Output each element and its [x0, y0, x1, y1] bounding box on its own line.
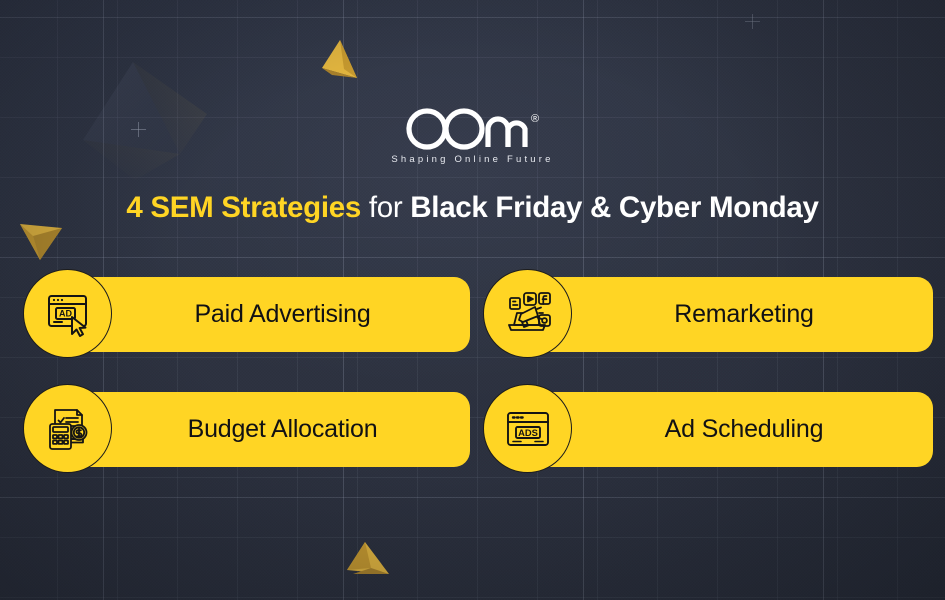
infographic-canvas: ® Shaping Online Future 4 SEM Strategies…: [0, 0, 945, 600]
strategy-label: Paid Advertising: [63, 300, 470, 329]
brand-logo: ® Shaping Online Future: [0, 108, 945, 165]
strategy-label: Budget Allocation: [63, 415, 470, 444]
registered-trademark-symbol: ®: [531, 114, 539, 125]
logo-mark: ®: [406, 108, 539, 150]
ads-browser-window-icon: ADS: [483, 384, 572, 473]
strategy-label: Remarketing: [523, 300, 933, 329]
strategy-row-2: Budget Allocation ADS Ad Scheduling: [0, 392, 945, 507]
headline-connector: for: [369, 191, 403, 224]
strategy-card-paid-advertising[interactable]: AD Paid Advertising: [63, 277, 470, 352]
svg-text:ADS: ADS: [518, 426, 538, 437]
strategy-card-ad-scheduling[interactable]: ADS Ad Scheduling: [523, 392, 933, 467]
headline-highlight: 4 SEM Strategies: [126, 191, 361, 224]
strategy-card-budget-allocation[interactable]: Budget Allocation: [63, 392, 470, 467]
laptop-megaphone-social-icon: [483, 269, 572, 358]
svg-text:AD: AD: [59, 308, 72, 318]
oom-wordmark-icon: [406, 108, 528, 150]
headline-emphasis: Black Friday & Cyber Monday: [410, 191, 818, 224]
strategy-card-remarketing[interactable]: Remarketing: [523, 277, 933, 352]
page-title: 4 SEM Strategies for Black Friday & Cybe…: [0, 192, 945, 224]
ad-browser-cursor-icon: AD: [23, 269, 112, 358]
strategy-card-grid: AD Paid Advertising: [0, 277, 945, 507]
brand-tagline: Shaping Online Future: [391, 154, 553, 165]
calculator-coins-invoice-icon: [23, 384, 112, 473]
strategy-label: Ad Scheduling: [523, 415, 933, 444]
strategy-row-1: AD Paid Advertising: [0, 277, 945, 392]
